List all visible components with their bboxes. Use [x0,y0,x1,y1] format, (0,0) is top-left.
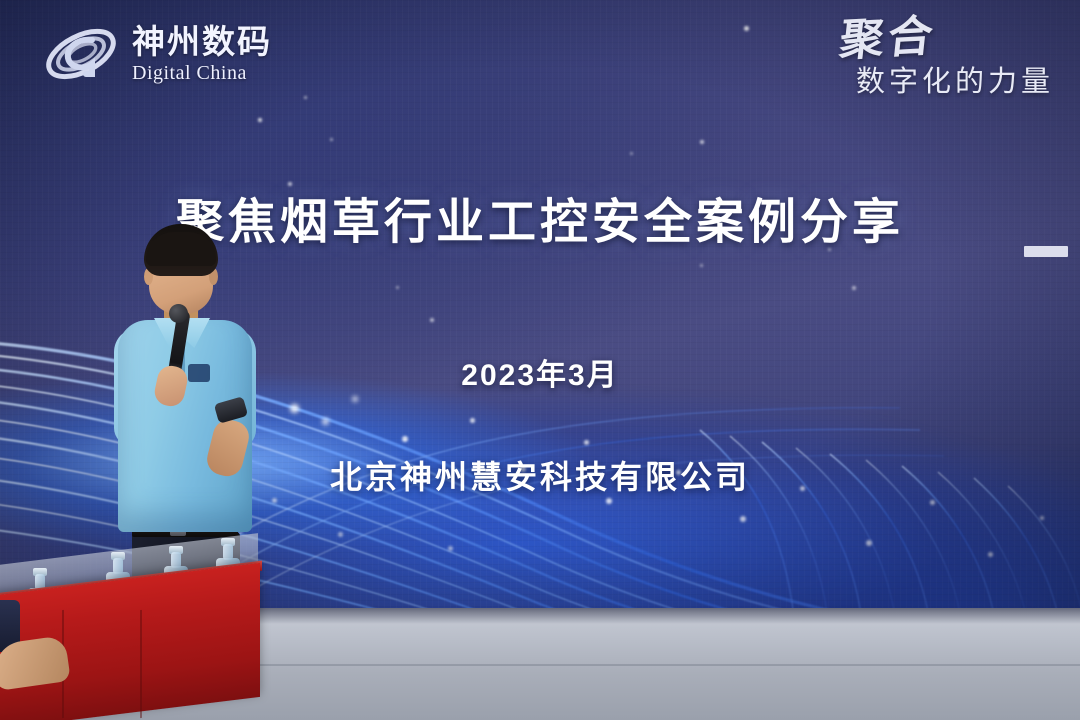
event-logo: 聚合 数字化的力量 [840,16,1054,100]
table-cloth-fold [140,610,142,718]
slide-accent-bar [1024,246,1068,257]
brand-name-cn: 神州数码 [132,25,272,58]
brand-name-en: Digital China [132,63,272,83]
speaker-hair-front [146,232,216,266]
event-calligraphy: 聚合 [837,14,939,65]
bottle-neck [171,552,181,568]
event-tagline: 数字化的力量 [840,58,1054,100]
bottle-neck [113,558,123,574]
speaker-shirt-logo-icon [188,364,210,382]
microphone-head-icon [169,304,188,323]
digital-china-swirl-logo [42,18,120,90]
digital-china-logo: 神州数码 Digital China [42,18,272,90]
stage-photo-scene: 神州数码 Digital China 聚合 数字化的力量 聚焦烟草行业工控安全案… [0,0,1080,720]
bottle-neck [223,544,233,560]
